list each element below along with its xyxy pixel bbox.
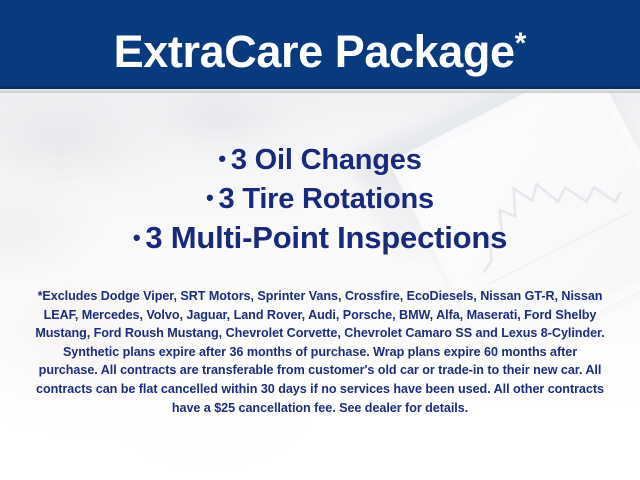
benefit-item-multi-point-inspections: •3 Multi-Point Inspections (0, 218, 640, 258)
benefit-item-tire-rotations: •3 Tire Rotations (0, 179, 640, 218)
bullet-icon: • (218, 146, 231, 171)
benefit-item-label: 3 Tire Rotations (219, 183, 434, 215)
benefit-item-label: 3 Multi-Point Inspections (145, 220, 507, 255)
header-divider (0, 89, 640, 93)
benefit-item-oil-changes: •3 Oil Changes (0, 140, 640, 179)
benefits-list: •3 Oil Changes •3 Tire Rotations •3 Mult… (0, 140, 640, 258)
page-title-text: ExtraCare Package (114, 26, 515, 77)
extracare-package-promo-card: ExtraCare Package* •3 Oil Changes •3 Tir… (0, 0, 640, 480)
disclaimer-text: *Excludes Dodge Viper, SRT Motors, Sprin… (32, 287, 608, 417)
page-title: ExtraCare Package* (0, 16, 640, 80)
benefit-item-label: 3 Oil Changes (231, 144, 422, 176)
bullet-icon: • (133, 225, 146, 250)
bullet-icon: • (206, 185, 219, 210)
page-title-asterisk: * (515, 27, 527, 60)
